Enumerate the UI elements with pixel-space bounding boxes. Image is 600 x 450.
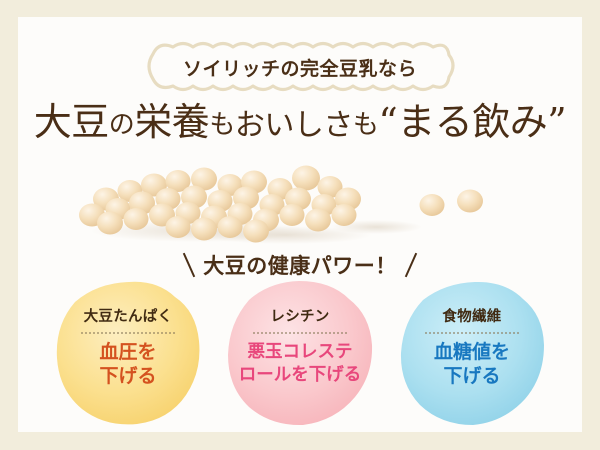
badge-content: 大豆たんぱく 血圧を 下げる: [53, 279, 203, 427]
soybeans-image: [18, 165, 582, 247]
badge-benefit-line2: 下げる: [434, 365, 510, 389]
badge-benefit-line2: ロールを下げる: [239, 364, 362, 387]
dotted-divider: [424, 332, 520, 334]
headline-part2: の: [109, 110, 135, 140]
benefit-badge-list: 大豆たんぱく 血圧を 下げる: [18, 279, 582, 429]
headline-part3: 栄養: [134, 100, 209, 144]
badge-benefit-line1: 悪玉コレステ: [239, 341, 362, 364]
headline-part4: も: [209, 110, 235, 140]
headline-line: 大豆の栄養もおいしさも“まる飲み”: [34, 100, 566, 145]
badge-label: 大豆たんぱく: [84, 305, 173, 326]
slash-right-icon: [405, 253, 417, 278]
section-heading-text: 大豆の健康パワー！: [203, 250, 397, 280]
benefit-badge-lecithin[interactable]: レシチン 悪玉コレステ ロールを下げる: [225, 279, 375, 427]
headline-emphasis: まる飲み: [397, 100, 547, 145]
page-title: 大豆の栄養もおいしさも“まる飲み”: [18, 100, 582, 145]
badge-content: レシチン 悪玉コレステ ロールを下げる: [225, 279, 375, 427]
headline-part6: も: [353, 110, 379, 140]
badge-label: レシチン: [270, 305, 329, 326]
badge-benefit: 悪玉コレステ ロールを下げる: [239, 341, 362, 387]
badge-benefit: 血圧を 下げる: [99, 341, 156, 389]
badge-benefit-line1: 血圧を: [99, 341, 156, 365]
banner: ソイリッチの完全豆乳なら: [18, 39, 582, 95]
headline-quote-open: “: [378, 100, 397, 144]
banner-text: ソイリッチの完全豆乳なら: [18, 39, 582, 95]
headline-quote-close: ”: [547, 100, 566, 144]
headline-part1: 大豆: [34, 100, 109, 144]
advertisement-frame: ソイリッチの完全豆乳なら 大豆の栄養もおいしさも“まる飲み”: [0, 0, 600, 450]
dotted-divider: [252, 332, 348, 334]
badge-benefit: 血糖値を 下げる: [434, 341, 510, 389]
headline-part5: おいしさ: [235, 108, 353, 143]
badge-benefit-line2: 下げる: [99, 365, 156, 389]
benefit-badge-dietary-fiber[interactable]: 食物繊維 血糖値を 下げる: [397, 279, 547, 427]
dotted-divider: [80, 332, 176, 334]
inner-panel: ソイリッチの完全豆乳なら 大豆の栄養もおいしさも“まる飲み”: [18, 17, 582, 432]
slash-left-icon: [183, 253, 195, 278]
badge-benefit-line1: 血糖値を: [434, 341, 510, 365]
badge-label: 食物繊維: [442, 305, 501, 326]
badge-content: 食物繊維 血糖値を 下げる: [397, 279, 547, 427]
benefit-badge-soy-protein[interactable]: 大豆たんぱく 血圧を 下げる: [53, 279, 203, 427]
